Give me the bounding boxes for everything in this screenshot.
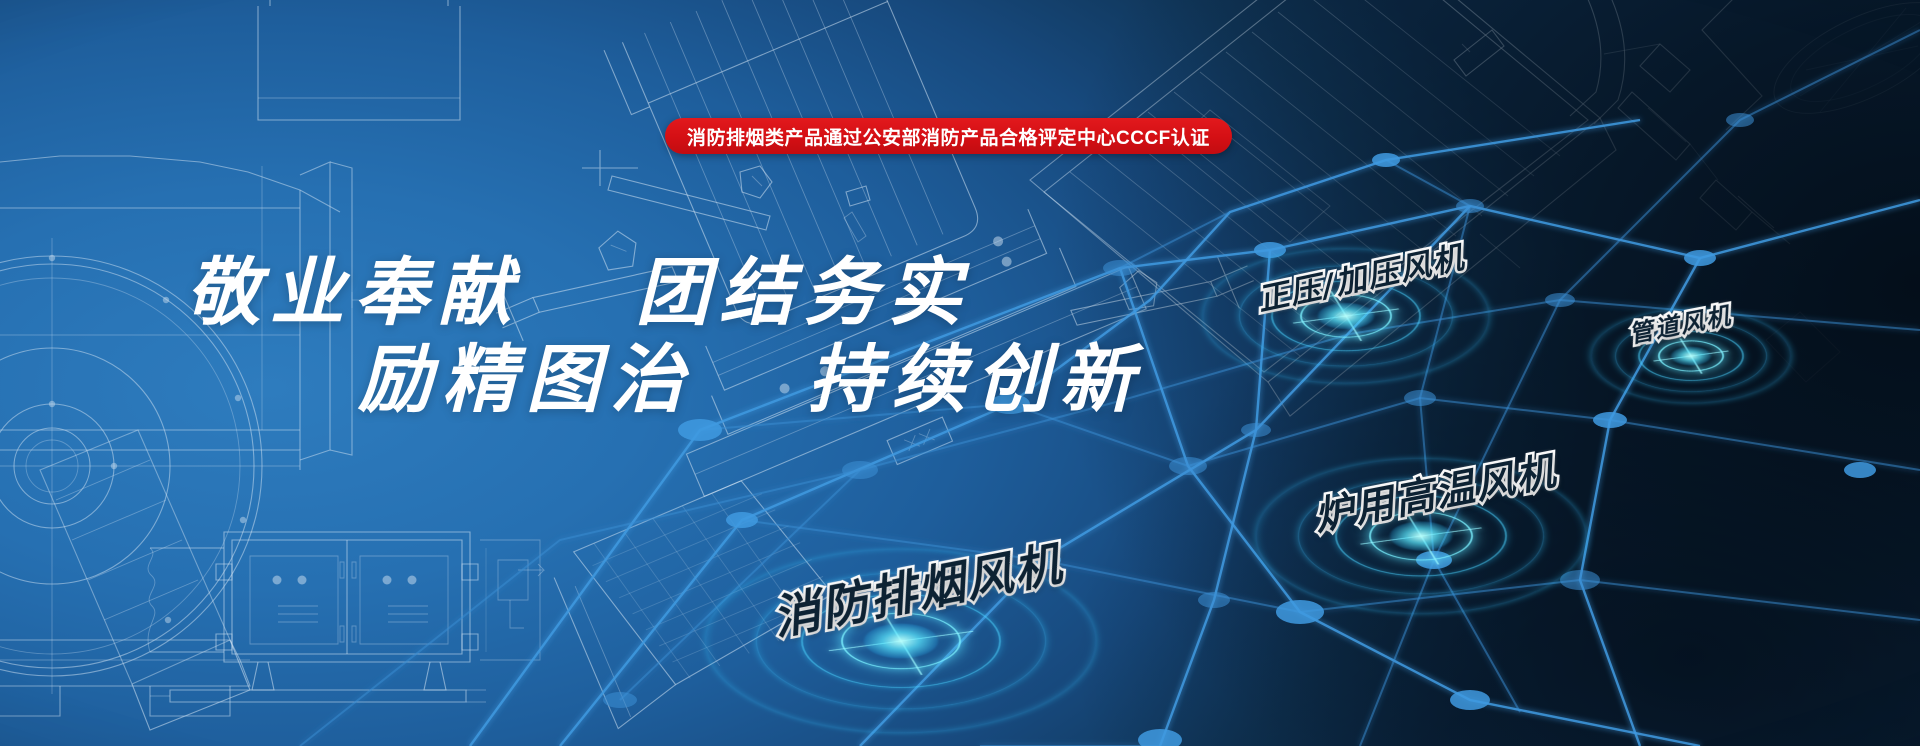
slogan-block: 敬业奉献 团结务实 励精图治 持续创新 <box>186 252 1086 422</box>
slogan-phrase-3: 励精图治 <box>358 337 694 423</box>
slogan-line-1: 敬业奉献 团结务实 <box>186 252 1086 335</box>
slogan-line-2: 励精图治 持续创新 <box>358 339 1086 422</box>
slogan-phrase-4: 持续创新 <box>808 337 1144 423</box>
hero-banner: 消防排烟风机 炉用高温风机 正压/加压风机 <box>0 0 1920 746</box>
product-hotspot-furnace-high-temp-fan[interactable]: 炉用高温风机 <box>1420 535 1421 536</box>
slogan-phrase-2: 团结务实 <box>636 250 972 336</box>
certification-ribbon-text: 消防排烟类产品通过公安部消防产品合格评定中心CCCF认证 <box>687 123 1210 150</box>
product-hotspot-duct-fan[interactable]: 管道风机 <box>1690 355 1691 356</box>
product-hotspot-positive-pressure-fan[interactable]: 正压/加压风机 <box>1345 315 1346 316</box>
slogan-phrase-1: 敬业奉献 <box>186 250 522 336</box>
certification-ribbon: 消防排烟类产品通过公安部消防产品合格评定中心CCCF认证 <box>665 118 1232 154</box>
product-hotspot-fire-smoke-exhaust-fan[interactable]: 消防排烟风机 <box>900 640 901 641</box>
